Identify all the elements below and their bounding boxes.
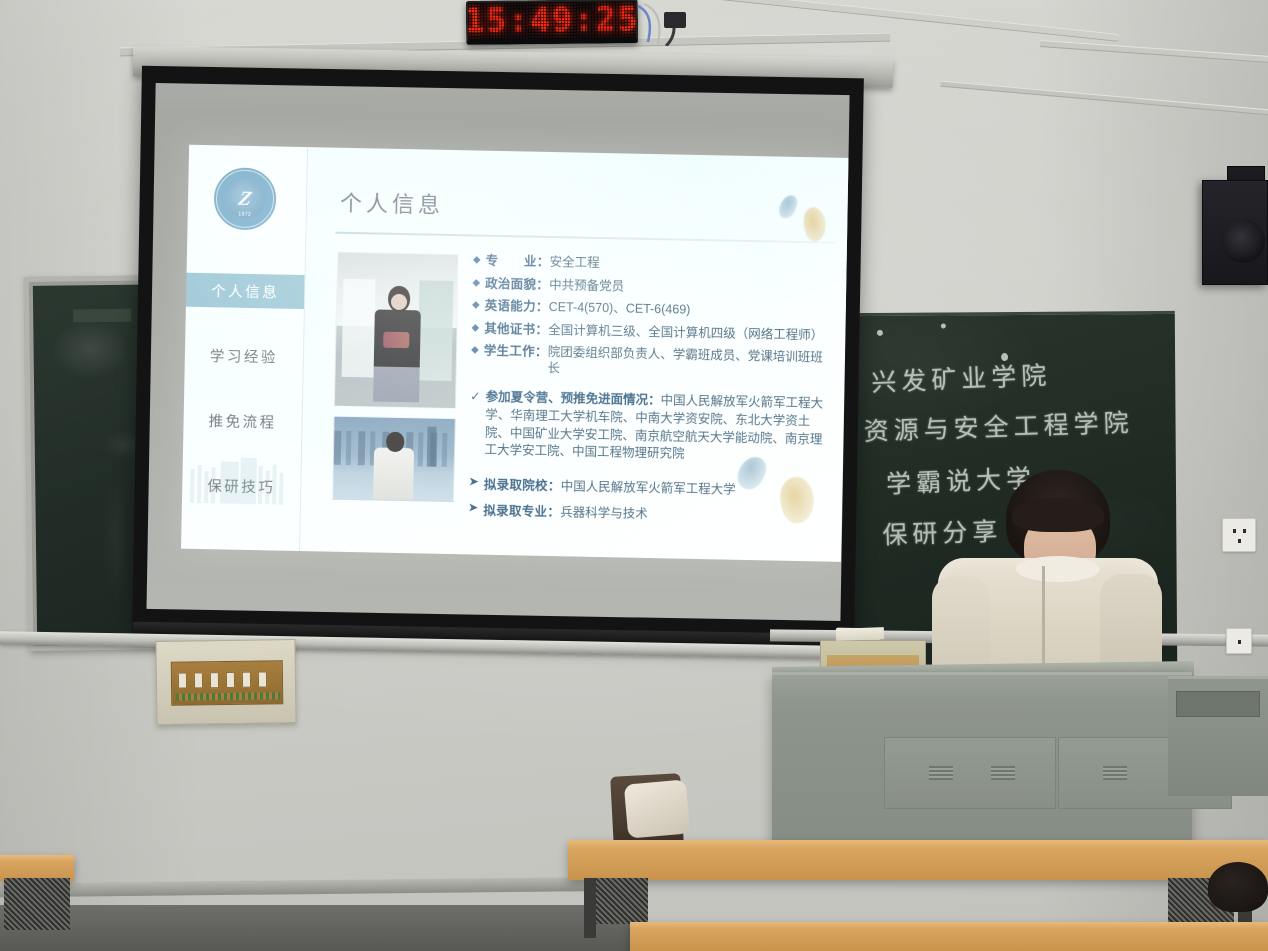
tail-value: 中国人民解放军火箭军工程大学 <box>561 475 736 498</box>
summer-camp-paragraph: ✓ 参加夏令营、预推免进面情况：中国人民解放军火箭军工程大学、华南理工大学机车院… <box>469 388 830 466</box>
desk <box>630 922 1268 951</box>
photo-door-left <box>342 279 376 378</box>
breaker-switch <box>210 672 219 688</box>
tail-key: 拟录取院校 <box>484 474 548 494</box>
vent-icon <box>929 766 953 780</box>
bullet-row-major: ◆ 专 业 ： 安全工程 <box>473 252 833 275</box>
arrow-bullet-icon: ➤ <box>468 499 479 514</box>
paragraph-key: 参加夏令营、预推免进面情况 <box>485 390 648 407</box>
diamond-bullet-icon: ◆ <box>471 342 479 357</box>
bullet-key: 专 业 <box>485 253 537 270</box>
breaker-window <box>171 660 284 706</box>
projected-slide: Z 1972 个人信息 学习经验 推免流程 <box>181 145 849 562</box>
photo-person-head <box>386 432 404 452</box>
breaker-switch <box>242 672 251 688</box>
classroom-floor <box>0 905 640 951</box>
photo-tower <box>427 427 437 467</box>
bullet-value: 中共预备党员 <box>549 276 624 294</box>
diamond-bullet-icon: ◆ <box>473 252 481 267</box>
sidebar-item-label: 推免流程 <box>208 410 276 432</box>
photo-door-right <box>417 280 453 381</box>
clock-time-display: 15:49:25 <box>466 2 638 37</box>
bullet-separator: ： <box>535 321 548 337</box>
photo-cityscape-portrait <box>332 416 456 502</box>
outlet-pin <box>1243 529 1246 533</box>
outlet-pin <box>1238 640 1241 644</box>
breaker-switch <box>194 672 203 688</box>
paragraph-separator: ： <box>648 393 661 407</box>
sidebar-item-recommendation-process[interactable]: 推免流程 <box>183 403 302 439</box>
sidebar-item-personal-info[interactable]: 个人信息 <box>186 273 305 309</box>
breaker-switch <box>178 673 187 689</box>
desk-leg <box>584 878 596 938</box>
tape-mark <box>73 309 131 323</box>
bullet-value: 全国计算机三级、全国计算机四级（网络工程师） <box>548 321 823 343</box>
tail-separator: ： <box>548 475 561 494</box>
desk-mesh-panel <box>4 878 70 930</box>
chalk-line-1: 兴发矿业学院 <box>871 351 1174 400</box>
bullet-separator: ： <box>537 254 550 270</box>
outlet-pin <box>1233 529 1236 533</box>
admission-major-row: ➤ 拟录取专业 ： 兵器科学与技术 <box>468 499 828 525</box>
bullet-row-student-work: ◆ 学生工作 ： 院团委组织部负责人、学霸班成员、党课培训班班长 <box>471 342 832 381</box>
breaker-switch <box>226 672 235 688</box>
power-outlet[interactable] <box>1222 518 1256 552</box>
slide-title: 个人信息 <box>340 186 445 220</box>
bullet-value: 安全工程 <box>549 254 599 271</box>
speaker-cone <box>1221 219 1265 263</box>
logo-year: 1972 <box>225 211 265 218</box>
diamond-bullet-icon: ◆ <box>472 275 480 290</box>
projection-surface: Z 1972 个人信息 学习经验 推免流程 <box>147 83 850 621</box>
admission-school-row: ➤ 拟录取院校 ： 中国人民解放军火箭军工程大学 <box>468 473 828 499</box>
clock-wiring <box>636 2 706 46</box>
lectern <box>772 672 1192 847</box>
bullet-separator: ： <box>535 344 548 360</box>
photo-subway-portrait <box>334 252 459 409</box>
sidebar-item-label: 个人信息 <box>211 280 279 302</box>
photo-person-body <box>373 309 421 402</box>
seated-person-head <box>1208 862 1268 912</box>
right-cabinet <box>1168 676 1268 796</box>
bullet-value: CET-4(570)、CET-6(469) <box>549 299 691 318</box>
logo-mark: Z <box>237 189 254 209</box>
campus-watermark <box>188 455 295 511</box>
admission-summary: ➤ 拟录取院校 ： 中国人民解放军火箭军工程大学 ➤ 拟录取专业 ： 兵器科学与… <box>468 473 829 525</box>
vent-icon <box>991 766 1015 780</box>
decor-leaf-gold-icon <box>800 205 829 243</box>
slide-canvas: Z 1972 个人信息 学习经验 推免流程 <box>181 145 849 562</box>
bullet-separator: ： <box>536 299 549 315</box>
diamond-bullet-icon: ◆ <box>471 320 479 335</box>
person-fringe <box>1012 498 1104 532</box>
diamond-bullet-icon: ◆ <box>472 297 480 312</box>
backpack <box>624 779 690 838</box>
desk-mesh-panel <box>592 878 648 924</box>
cabinet-slot <box>1176 691 1260 717</box>
bullet-key: 学生工作 <box>484 343 536 360</box>
wall-speaker-icon <box>1202 180 1268 285</box>
photo-person-body <box>373 447 414 502</box>
chalk-speck <box>877 330 883 336</box>
decor-leaf-blue-icon <box>777 193 800 221</box>
led-wall-clock: 15:49:25 <box>466 0 638 45</box>
tail-value: 兵器科学与技术 <box>560 501 648 522</box>
desk <box>568 840 1268 880</box>
slide-title-rule <box>335 232 835 244</box>
lectern-door[interactable] <box>884 737 1056 809</box>
bullet-row-english: ◆ 英语能力 ： CET-4(570)、CET-6(469) <box>472 297 832 320</box>
paragraph-text: 参加夏令营、预推免进面情况：中国人民解放军火箭军工程大学、华南理工大学机车院、中… <box>484 389 830 467</box>
electrical-panel <box>155 639 296 725</box>
vent-icon <box>1103 766 1127 780</box>
tail-key: 拟录取专业 <box>483 500 547 520</box>
arrow-bullet-icon: ➤ <box>468 473 479 488</box>
stacked-papers <box>836 627 884 641</box>
bullet-row-political: ◆ 政治面貌 ： 中共预备党员 <box>472 275 832 298</box>
chalk-line-2: 资源与安全工程学院 <box>863 402 1174 448</box>
breaker-terminal-strip <box>176 692 280 700</box>
bullet-key: 英语能力 <box>485 298 537 315</box>
classroom-scene: 15:49:25 兴发矿业学院 资源与安全工程学院 学霸说大学 保研分享 <box>0 0 1268 951</box>
tail-separator: ： <box>547 501 560 520</box>
person-collar <box>1016 556 1100 582</box>
bullet-key: 其他证书 <box>484 320 536 337</box>
bullet-separator: ： <box>536 276 549 292</box>
chalk-speck <box>941 323 946 328</box>
check-bullet-icon: ✓ <box>470 388 481 406</box>
breaker-switch <box>258 671 267 687</box>
bullet-key: 政治面貌 <box>485 275 537 292</box>
slide-body: ◆ 专 业 ： 安全工程 ◆ 政治面貌 ： 中共预备党员 ◆ <box>468 252 833 532</box>
outlet-pin <box>1238 539 1241 543</box>
photo-shirt-graphic <box>383 332 409 349</box>
bullet-row-certificates: ◆ 其他证书 ： 全国计算机三级、全国计算机四级（网络工程师） <box>471 320 831 343</box>
logo-inner-disc: Z 1972 <box>225 178 266 219</box>
projector-screen-frame: Z 1972 个人信息 学习经验 推免流程 <box>132 66 864 644</box>
sidebar-item-label: 学习经验 <box>210 345 278 367</box>
bullet-value: 院团委组织部负责人、学霸班成员、党课培训班班长 <box>547 344 831 382</box>
power-outlet[interactable] <box>1226 628 1252 654</box>
sidebar-item-study-experience[interactable]: 学习经验 <box>185 338 304 374</box>
